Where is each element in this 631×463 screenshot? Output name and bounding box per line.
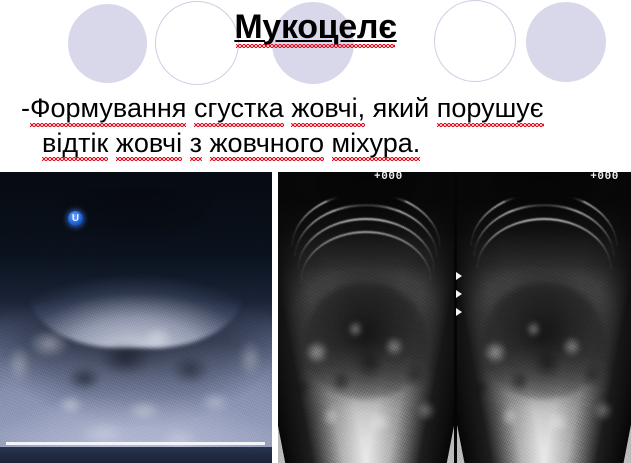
figure-row: U +000 xyxy=(0,172,631,463)
ultrasound-pane-b: +000 xyxy=(457,172,631,463)
ultrasound-scale-bar xyxy=(6,442,265,445)
body-line-1: - Формування сгустка жовчі, який порушує xyxy=(0,91,631,126)
caliper-marker-icon xyxy=(456,272,462,280)
body-word: жовчного xyxy=(210,126,324,161)
body-space xyxy=(186,91,194,126)
body-space xyxy=(284,91,292,126)
slide-title: Мукоцелє xyxy=(234,8,396,46)
pane-a-grain xyxy=(278,172,454,463)
slide-title-wrapper: Мукоцелє xyxy=(0,8,631,46)
body-space xyxy=(365,91,373,126)
body-word: жовчі xyxy=(116,126,182,161)
caliper-marker-icon xyxy=(456,290,462,298)
ultrasound-image-right: +000 +000 xyxy=(278,172,631,463)
body-word: з xyxy=(190,126,202,161)
body-word: міхура. xyxy=(332,126,421,161)
body-word: відтік xyxy=(42,126,108,161)
body-word: сгустка xyxy=(194,91,284,126)
body-space xyxy=(202,126,210,161)
slide-canvas: Мукоцелє - Формування сгустка жовчі, яки… xyxy=(0,0,631,463)
body-space xyxy=(182,126,190,161)
body-space xyxy=(324,126,332,161)
body-word: жовчі, xyxy=(291,91,365,126)
body-space xyxy=(429,91,437,126)
bullet-dash: - xyxy=(21,91,30,126)
ultrasound-pane-divider xyxy=(454,172,457,463)
slide-title-text: Мукоцелє xyxy=(234,8,396,46)
ultrasound-left-grain xyxy=(0,172,272,463)
pane-a-depth-label: +000 xyxy=(374,172,403,183)
probe-marker-icon: U xyxy=(68,211,83,226)
body-word: Формування xyxy=(30,91,186,126)
body-line-2: відтік жовчі з жовчного міхура. xyxy=(0,126,631,161)
pane-b-grain xyxy=(457,172,631,463)
body-word: який xyxy=(373,91,430,126)
spellcheck-squiggle-title xyxy=(236,44,394,48)
ultrasound-left-footer xyxy=(0,447,272,463)
slide-body-text: - Формування сгустка жовчі, який порушує… xyxy=(0,91,631,160)
caliper-marker-icon xyxy=(456,308,462,316)
ultrasound-image-left: U xyxy=(0,172,272,463)
body-word: порушує xyxy=(437,91,544,126)
body-space xyxy=(108,126,116,161)
ultrasound-pane-a: +000 xyxy=(278,172,454,463)
pane-b-depth-label: +000 xyxy=(590,172,619,183)
